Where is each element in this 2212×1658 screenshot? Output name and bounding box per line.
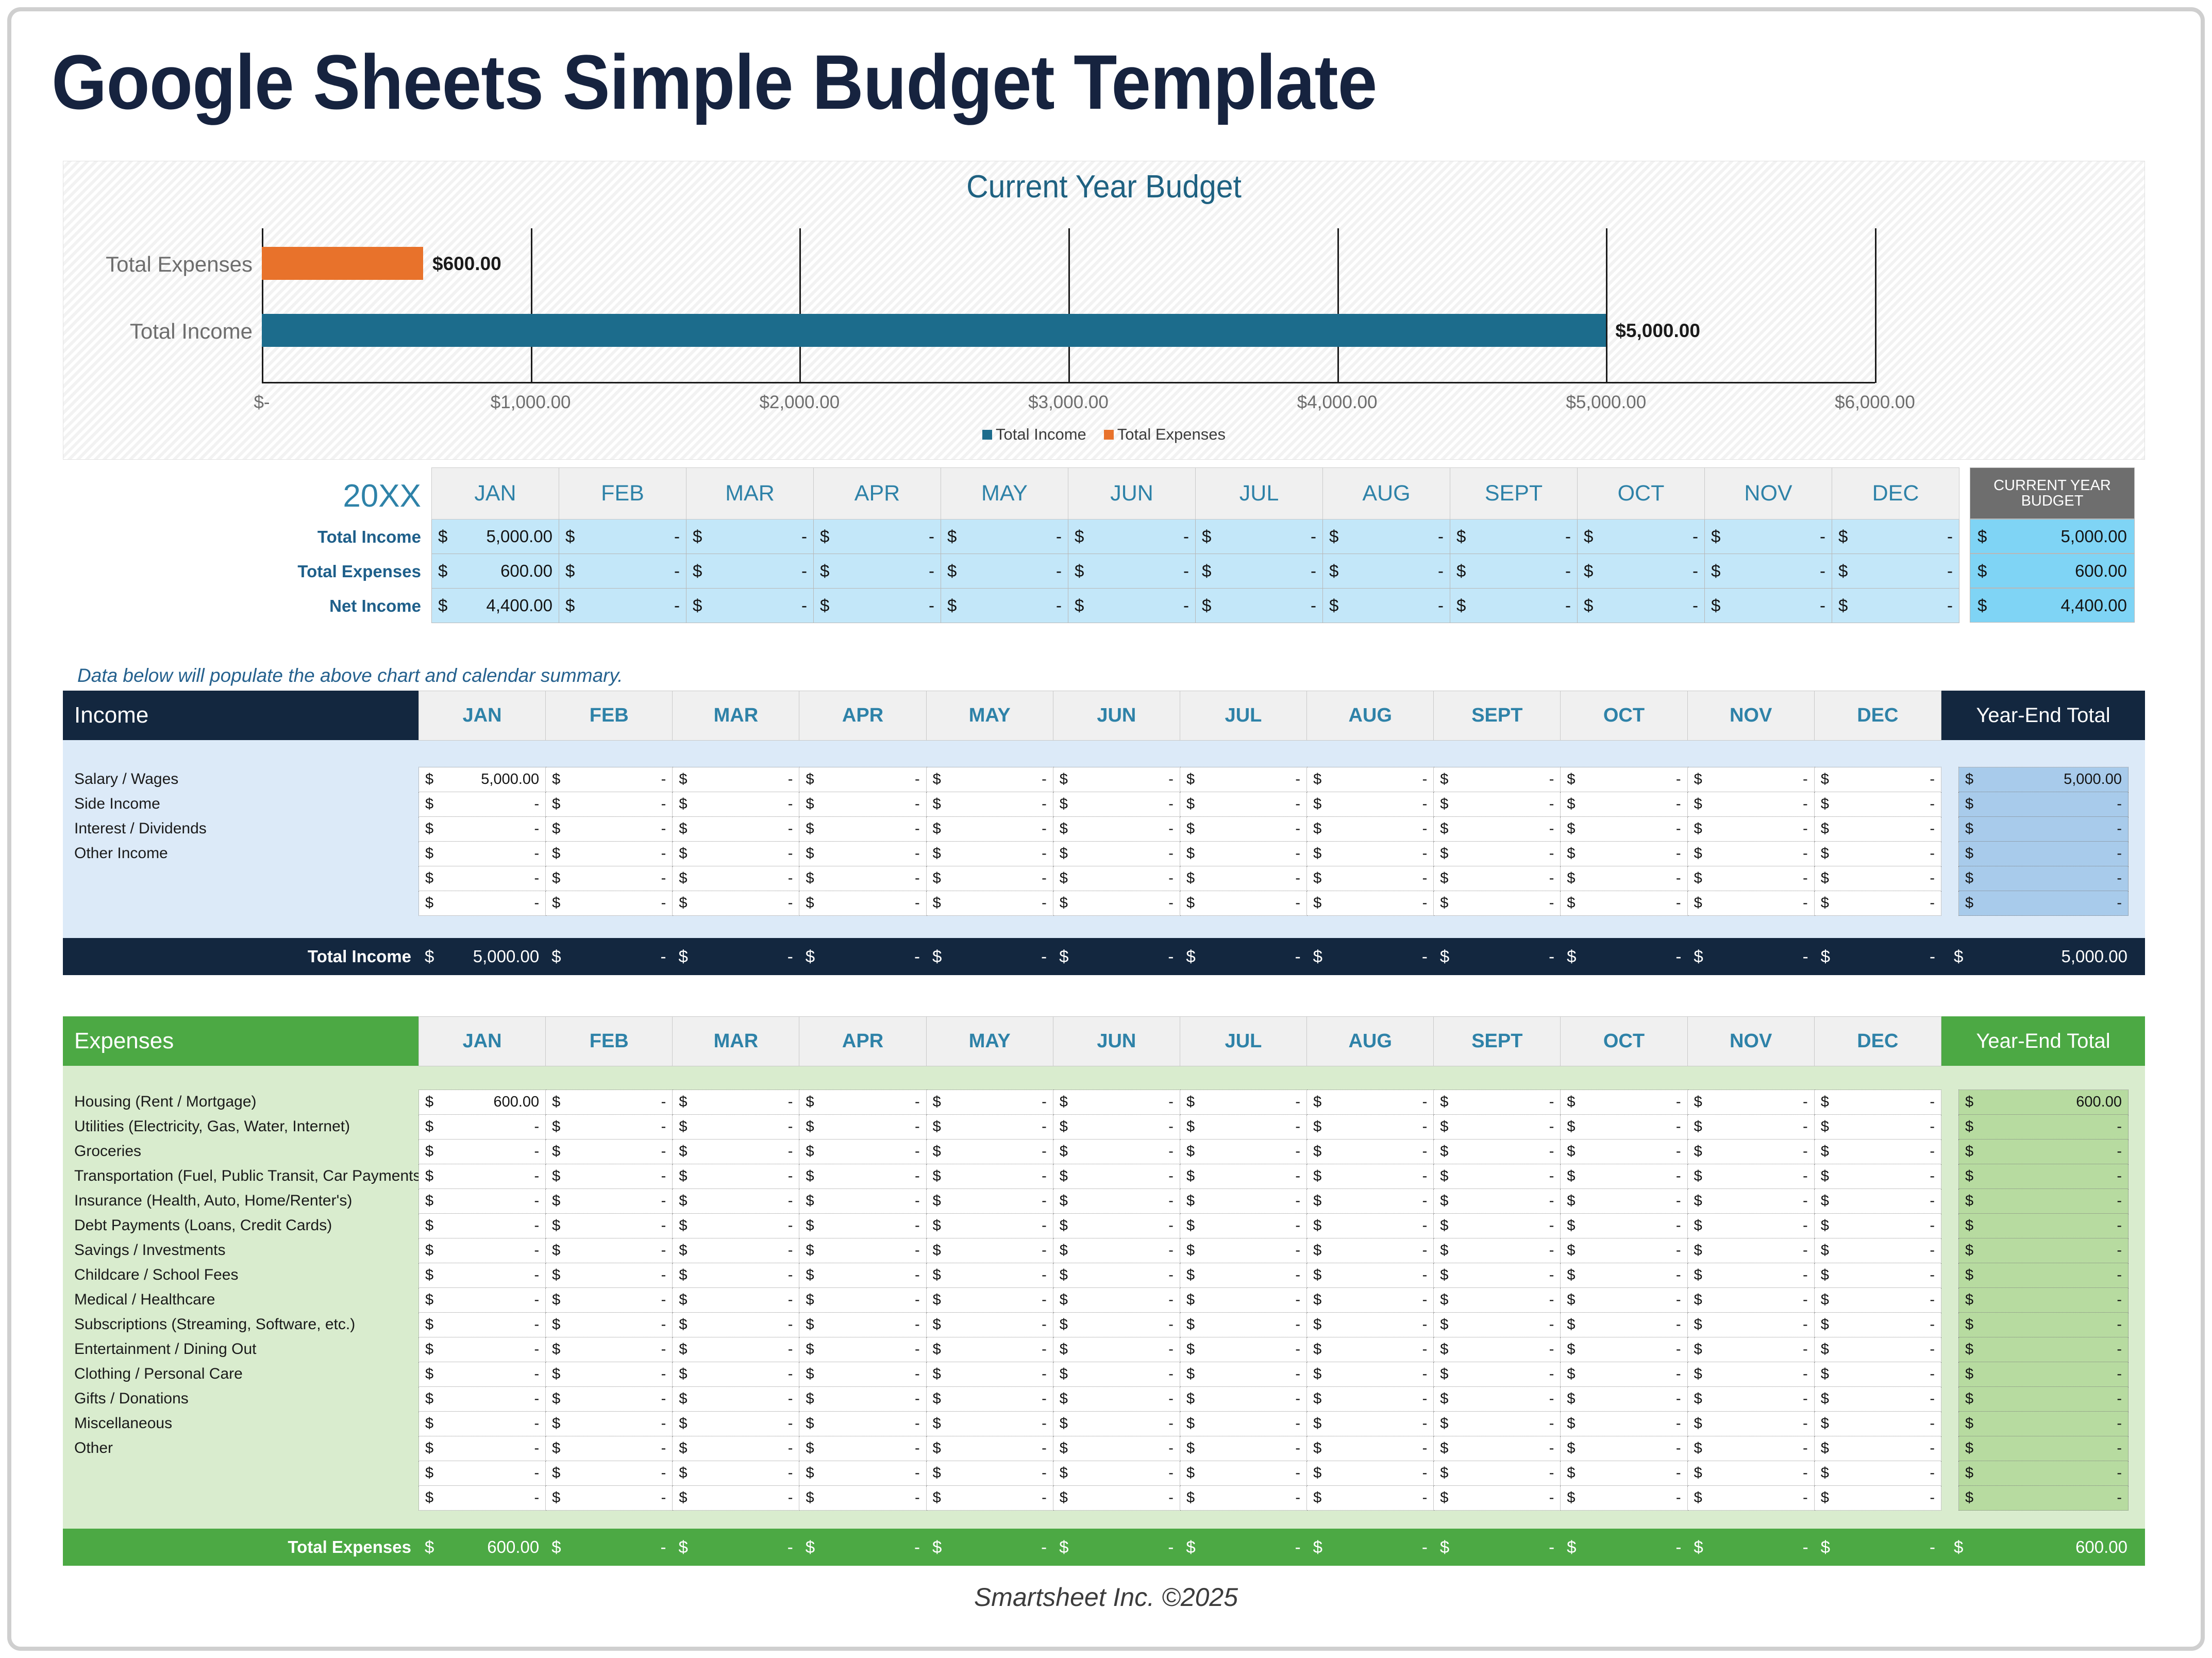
expenses-cell[interactable]: $- <box>1434 1090 1561 1115</box>
income-cell[interactable]: $- <box>1687 792 1814 817</box>
expenses-cell[interactable]: $- <box>1307 1238 1434 1263</box>
income-cell[interactable]: $- <box>1180 817 1306 842</box>
income-cell[interactable]: $- <box>1180 891 1306 916</box>
income-yearend-cell[interactable]: $- <box>1959 817 2129 842</box>
income-cell[interactable]: $- <box>1307 817 1434 842</box>
income-cell[interactable]: $- <box>926 891 1053 916</box>
expenses-cell[interactable]: $- <box>1180 1387 1306 1412</box>
expenses-cell[interactable]: $- <box>419 1337 546 1362</box>
expenses-yearend-cell[interactable]: $- <box>1959 1313 2129 1337</box>
expenses-cell[interactable]: $- <box>926 1412 1053 1436</box>
expenses-cell[interactable]: $- <box>1814 1461 1941 1486</box>
expenses-cell[interactable]: $- <box>673 1189 799 1214</box>
expenses-cell[interactable]: $- <box>673 1140 799 1164</box>
expenses-cell[interactable]: $- <box>1053 1362 1180 1387</box>
expenses-cell[interactable]: $- <box>1434 1436 1561 1461</box>
expenses-cell[interactable]: $- <box>673 1461 799 1486</box>
expenses-cell[interactable]: $- <box>1307 1461 1434 1486</box>
expenses-cell[interactable]: $- <box>1180 1263 1306 1288</box>
income-cell[interactable]: $- <box>799 866 926 891</box>
expenses-cell[interactable]: $- <box>1434 1238 1561 1263</box>
expenses-cell[interactable]: $- <box>546 1436 673 1461</box>
expenses-cell[interactable]: $- <box>1307 1288 1434 1313</box>
income-cell[interactable]: $5,000.00 <box>419 767 546 792</box>
expenses-cell[interactable]: $- <box>1180 1412 1306 1436</box>
expenses-cell[interactable]: $- <box>1561 1362 1687 1387</box>
expenses-yearend-cell[interactable]: $- <box>1959 1412 2129 1436</box>
income-cell[interactable]: $- <box>1814 891 1941 916</box>
expenses-cell[interactable]: $- <box>1814 1238 1941 1263</box>
expenses-cell[interactable]: $- <box>1687 1486 1814 1511</box>
expenses-cell[interactable]: $- <box>1814 1140 1941 1164</box>
expenses-cell[interactable]: $- <box>799 1090 926 1115</box>
summary-cell[interactable]: $- <box>1323 589 1450 623</box>
expenses-yearend-cell[interactable]: $- <box>1959 1214 2129 1238</box>
expenses-cell[interactable]: $- <box>419 1412 546 1436</box>
expenses-cell[interactable]: $- <box>926 1189 1053 1214</box>
expenses-cell[interactable]: $- <box>1434 1288 1561 1313</box>
expenses-cell[interactable]: $- <box>673 1214 799 1238</box>
income-yearend-cell[interactable]: $- <box>1959 842 2129 866</box>
expenses-cell[interactable]: $- <box>1687 1263 1814 1288</box>
summary-cell[interactable]: $- <box>1578 520 1705 554</box>
expenses-cell[interactable]: $- <box>419 1362 546 1387</box>
expenses-cell[interactable]: $- <box>1561 1238 1687 1263</box>
expenses-cell[interactable]: $- <box>1180 1313 1306 1337</box>
expenses-yearend-cell[interactable]: $- <box>1959 1362 2129 1387</box>
expenses-cell[interactable]: $- <box>1053 1436 1180 1461</box>
expenses-cell[interactable]: $- <box>1434 1486 1561 1511</box>
expenses-row-label[interactable]: Utilities (Electricity, Gas, Water, Inte… <box>63 1114 418 1139</box>
income-cell[interactable]: $- <box>799 767 926 792</box>
expenses-cell[interactable]: $- <box>419 1461 546 1486</box>
expenses-cell[interactable]: $- <box>673 1090 799 1115</box>
expenses-cell[interactable]: $- <box>1307 1140 1434 1164</box>
income-cell[interactable]: $- <box>1434 817 1561 842</box>
income-cell[interactable]: $- <box>1814 767 1941 792</box>
income-cell[interactable]: $- <box>926 866 1053 891</box>
summary-cell[interactable]: $- <box>1068 589 1196 623</box>
income-cell[interactable]: $- <box>799 891 926 916</box>
income-cell[interactable]: $- <box>1053 891 1180 916</box>
expenses-cell[interactable]: $- <box>673 1238 799 1263</box>
expenses-cell[interactable]: $- <box>1434 1461 1561 1486</box>
expenses-cell[interactable]: $- <box>1053 1461 1180 1486</box>
expenses-row-label[interactable]: Insurance (Health, Auto, Home/Renter's) <box>63 1188 418 1213</box>
expenses-cell[interactable]: $- <box>1180 1140 1306 1164</box>
expenses-cell[interactable]: $- <box>1561 1288 1687 1313</box>
expenses-cell[interactable]: $- <box>1180 1238 1306 1263</box>
expenses-cell[interactable]: $- <box>1687 1214 1814 1238</box>
expenses-yearend-cell[interactable]: $- <box>1959 1436 2129 1461</box>
expenses-cell[interactable]: $- <box>1180 1362 1306 1387</box>
expenses-yearend-cell[interactable]: $- <box>1959 1238 2129 1263</box>
expenses-yearend-cell[interactable]: $- <box>1959 1263 2129 1288</box>
expenses-cell[interactable]: $- <box>673 1387 799 1412</box>
expenses-cell[interactable]: $- <box>799 1362 926 1387</box>
income-cell[interactable]: $- <box>1687 817 1814 842</box>
expenses-cell[interactable]: $- <box>1307 1412 1434 1436</box>
expenses-cell[interactable]: $- <box>1434 1189 1561 1214</box>
expenses-cell[interactable]: $- <box>926 1214 1053 1238</box>
expenses-cell[interactable]: $- <box>799 1214 926 1238</box>
expenses-cell[interactable]: $- <box>419 1387 546 1412</box>
expenses-cell[interactable]: $- <box>1814 1313 1941 1337</box>
income-cell[interactable]: $- <box>1434 866 1561 891</box>
income-cell[interactable]: $- <box>1687 767 1814 792</box>
summary-cell[interactable]: $- <box>1832 589 1959 623</box>
income-cell[interactable]: $- <box>1307 891 1434 916</box>
income-cell[interactable]: $- <box>1053 767 1180 792</box>
expenses-cell[interactable]: $- <box>1687 1164 1814 1189</box>
expenses-cell[interactable]: $- <box>926 1090 1053 1115</box>
income-cell[interactable]: $- <box>1561 792 1687 817</box>
expenses-cell[interactable]: $- <box>419 1486 546 1511</box>
income-cell[interactable]: $- <box>1307 842 1434 866</box>
expenses-cell[interactable]: $- <box>1180 1189 1306 1214</box>
expenses-cell[interactable]: $- <box>419 1313 546 1337</box>
expenses-cell[interactable]: $- <box>1434 1313 1561 1337</box>
expenses-cell[interactable]: $- <box>1814 1288 1941 1313</box>
expenses-cell[interactable]: $- <box>1561 1214 1687 1238</box>
income-cell[interactable]: $- <box>799 842 926 866</box>
income-cell[interactable]: $- <box>546 817 673 842</box>
expenses-cell[interactable]: $- <box>1434 1164 1561 1189</box>
income-cell[interactable]: $- <box>1687 891 1814 916</box>
expenses-cell[interactable]: $- <box>1053 1412 1180 1436</box>
expenses-cell[interactable]: $- <box>1434 1263 1561 1288</box>
expenses-cell[interactable]: $- <box>673 1412 799 1436</box>
expenses-cell[interactable]: $- <box>546 1288 673 1313</box>
expenses-row-label[interactable]: Gifts / Donations <box>63 1386 418 1411</box>
income-cell[interactable]: $- <box>419 866 546 891</box>
income-cell[interactable]: $- <box>1053 842 1180 866</box>
expenses-yearend-cell[interactable]: $- <box>1959 1115 2129 1140</box>
income-cell[interactable]: $- <box>799 792 926 817</box>
expenses-row-label[interactable]: Clothing / Personal Care <box>63 1362 418 1386</box>
income-cell[interactable]: $- <box>673 842 799 866</box>
expenses-cell[interactable]: $- <box>1180 1461 1306 1486</box>
expenses-cell[interactable]: $- <box>1434 1362 1561 1387</box>
expenses-cell[interactable]: $- <box>926 1461 1053 1486</box>
expenses-cell[interactable]: $- <box>546 1164 673 1189</box>
expenses-row-label[interactable]: Debt Payments (Loans, Credit Cards) <box>63 1213 418 1238</box>
expenses-cell[interactable]: $- <box>799 1387 926 1412</box>
expenses-cell[interactable]: $- <box>1814 1337 1941 1362</box>
expenses-cell[interactable]: $- <box>419 1288 546 1313</box>
summary-cell[interactable]: $- <box>1196 589 1323 623</box>
expenses-cell[interactable]: $- <box>1434 1387 1561 1412</box>
income-cell[interactable]: $- <box>1307 792 1434 817</box>
income-yearend-cell[interactable]: $- <box>1959 891 2129 916</box>
summary-cell[interactable]: $- <box>814 520 941 554</box>
expenses-cell[interactable]: $- <box>1561 1164 1687 1189</box>
expenses-cell[interactable]: $- <box>926 1263 1053 1288</box>
expenses-cell[interactable]: $- <box>546 1115 673 1140</box>
income-cell[interactable]: $- <box>1434 792 1561 817</box>
expenses-cell[interactable]: $- <box>1561 1337 1687 1362</box>
expenses-cell[interactable]: $- <box>673 1263 799 1288</box>
expenses-yearend-cell[interactable]: $- <box>1959 1337 2129 1362</box>
income-yearend-cell[interactable]: $5,000.00 <box>1959 767 2129 792</box>
expenses-cell[interactable]: $- <box>1687 1337 1814 1362</box>
income-cell[interactable]: $- <box>1814 866 1941 891</box>
income-cell[interactable]: $- <box>1053 817 1180 842</box>
expenses-cell[interactable]: $- <box>1307 1486 1434 1511</box>
expenses-cell[interactable]: $- <box>1687 1238 1814 1263</box>
expenses-cell[interactable]: $- <box>1053 1164 1180 1189</box>
income-cell[interactable]: $- <box>419 842 546 866</box>
summary-cell[interactable]: $- <box>1068 520 1196 554</box>
expenses-cell[interactable]: $- <box>1053 1189 1180 1214</box>
expenses-cell[interactable]: $- <box>1180 1214 1306 1238</box>
expenses-cell[interactable]: $- <box>1307 1214 1434 1238</box>
expenses-cell[interactable]: $- <box>926 1486 1053 1511</box>
expenses-cell[interactable]: $- <box>1307 1115 1434 1140</box>
expenses-cell[interactable]: $- <box>1307 1362 1434 1387</box>
expenses-cell[interactable]: $- <box>1814 1214 1941 1238</box>
income-cell[interactable]: $- <box>673 866 799 891</box>
income-cell[interactable]: $- <box>926 842 1053 866</box>
income-cell[interactable]: $- <box>1561 842 1687 866</box>
expenses-cell[interactable]: $- <box>1687 1090 1814 1115</box>
expenses-yearend-cell[interactable]: $- <box>1959 1288 2129 1313</box>
expenses-cell[interactable]: $- <box>673 1313 799 1337</box>
expenses-cell[interactable]: $- <box>799 1436 926 1461</box>
expenses-cell[interactable]: $- <box>1814 1263 1941 1288</box>
expenses-cell[interactable]: $- <box>1561 1189 1687 1214</box>
expenses-cell[interactable]: $- <box>546 1189 673 1214</box>
expenses-yearend-cell[interactable]: $600.00 <box>1959 1090 2129 1115</box>
expenses-cell[interactable]: $- <box>1307 1263 1434 1288</box>
expenses-row-label[interactable]: Medical / Healthcare <box>63 1287 418 1312</box>
expenses-row-label[interactable]: Subscriptions (Streaming, Software, etc.… <box>63 1312 418 1337</box>
expenses-cell[interactable]: $- <box>1434 1115 1561 1140</box>
expenses-cell[interactable]: $- <box>1814 1387 1941 1412</box>
income-row-label[interactable] <box>63 866 418 891</box>
summary-cell[interactable]: $- <box>1323 554 1450 589</box>
summary-cell[interactable]: $- <box>1578 589 1705 623</box>
expenses-cell[interactable]: $600.00 <box>419 1090 546 1115</box>
income-cell[interactable]: $- <box>419 817 546 842</box>
expenses-cell[interactable]: $- <box>1307 1436 1434 1461</box>
expenses-cell[interactable]: $- <box>673 1164 799 1189</box>
income-cell[interactable]: $- <box>673 817 799 842</box>
expenses-row-label[interactable]: Entertainment / Dining Out <box>63 1337 418 1362</box>
expenses-cell[interactable]: $- <box>546 1362 673 1387</box>
expenses-cell[interactable]: $- <box>1561 1263 1687 1288</box>
expenses-cell[interactable]: $- <box>1561 1313 1687 1337</box>
income-cell[interactable]: $- <box>926 792 1053 817</box>
expenses-cell[interactable]: $- <box>926 1288 1053 1313</box>
income-cell[interactable]: $- <box>1814 792 1941 817</box>
expenses-cell[interactable]: $- <box>673 1436 799 1461</box>
expenses-cell[interactable]: $- <box>546 1313 673 1337</box>
current-year-budget-cell[interactable]: $600.00 <box>1970 554 2135 588</box>
expenses-cell[interactable]: $- <box>799 1486 926 1511</box>
income-cell[interactable]: $- <box>1687 842 1814 866</box>
expenses-yearend-cell[interactable]: $- <box>1959 1189 2129 1214</box>
income-cell[interactable]: $- <box>1814 817 1941 842</box>
income-cell[interactable]: $- <box>1434 842 1561 866</box>
expenses-cell[interactable]: $- <box>1687 1436 1814 1461</box>
expenses-yearend-cell[interactable]: $- <box>1959 1461 2129 1486</box>
income-row-label[interactable]: Interest / Dividends <box>63 816 418 841</box>
expenses-cell[interactable]: $- <box>799 1263 926 1288</box>
expenses-cell[interactable]: $- <box>1180 1115 1306 1140</box>
expenses-cell[interactable]: $- <box>926 1337 1053 1362</box>
expenses-cell[interactable]: $- <box>1561 1436 1687 1461</box>
expenses-cell[interactable]: $- <box>546 1214 673 1238</box>
income-cell[interactable]: $- <box>1434 891 1561 916</box>
expenses-cell[interactable]: $- <box>1561 1486 1687 1511</box>
expenses-cell[interactable]: $- <box>546 1412 673 1436</box>
expenses-cell[interactable]: $- <box>1180 1436 1306 1461</box>
income-cell[interactable]: $- <box>926 767 1053 792</box>
summary-cell[interactable]: $- <box>686 554 814 589</box>
income-cell[interactable]: $- <box>419 891 546 916</box>
current-year-budget-cell[interactable]: $4,400.00 <box>1970 588 2135 623</box>
summary-cell[interactable]: $- <box>559 554 686 589</box>
expenses-cell[interactable]: $- <box>799 1412 926 1436</box>
summary-cell[interactable]: $- <box>1068 554 1196 589</box>
expenses-cell[interactable]: $- <box>1180 1288 1306 1313</box>
expenses-cell[interactable]: $- <box>1053 1214 1180 1238</box>
expenses-cell[interactable]: $- <box>1814 1412 1941 1436</box>
income-cell[interactable]: $- <box>546 891 673 916</box>
summary-cell[interactable]: $- <box>1832 520 1959 554</box>
expenses-row-label[interactable]: Miscellaneous <box>63 1411 418 1436</box>
summary-cell[interactable]: $- <box>1705 589 1832 623</box>
expenses-cell[interactable]: $- <box>673 1486 799 1511</box>
summary-cell[interactable]: $4,400.00 <box>432 589 559 623</box>
income-cell[interactable]: $- <box>546 842 673 866</box>
summary-cell[interactable]: $- <box>814 554 941 589</box>
income-cell[interactable]: $- <box>419 792 546 817</box>
expenses-row-label[interactable]: Groceries <box>63 1139 418 1164</box>
expenses-cell[interactable]: $- <box>419 1115 546 1140</box>
expenses-cell[interactable]: $- <box>1180 1337 1306 1362</box>
income-cell[interactable]: $- <box>546 792 673 817</box>
expenses-cell[interactable]: $- <box>1687 1313 1814 1337</box>
expenses-cell[interactable]: $- <box>546 1090 673 1115</box>
expenses-cell[interactable]: $- <box>799 1189 926 1214</box>
expenses-cell[interactable]: $- <box>1814 1362 1941 1387</box>
expenses-row-label[interactable] <box>63 1485 418 1510</box>
expenses-cell[interactable]: $- <box>926 1238 1053 1263</box>
income-yearend-cell[interactable]: $- <box>1959 866 2129 891</box>
income-cell[interactable]: $- <box>673 891 799 916</box>
expenses-cell[interactable]: $- <box>419 1164 546 1189</box>
expenses-cell[interactable]: $- <box>1307 1164 1434 1189</box>
expenses-row-label[interactable]: Other <box>63 1436 418 1461</box>
income-cell[interactable]: $- <box>546 767 673 792</box>
summary-cell[interactable]: $- <box>686 520 814 554</box>
expenses-cell[interactable]: $- <box>1053 1288 1180 1313</box>
expenses-cell[interactable]: $- <box>926 1140 1053 1164</box>
expenses-cell[interactable]: $- <box>546 1387 673 1412</box>
expenses-cell[interactable]: $- <box>926 1387 1053 1412</box>
expenses-cell[interactable]: $- <box>1814 1436 1941 1461</box>
income-cell[interactable]: $- <box>1307 866 1434 891</box>
expenses-cell[interactable]: $- <box>799 1337 926 1362</box>
income-row-label[interactable]: Salary / Wages <box>63 767 418 792</box>
expenses-cell[interactable]: $- <box>1307 1337 1434 1362</box>
expenses-cell[interactable]: $- <box>1687 1115 1814 1140</box>
expenses-cell[interactable]: $- <box>1180 1090 1306 1115</box>
summary-cell[interactable]: $- <box>1832 554 1959 589</box>
summary-cell[interactable]: $- <box>1705 554 1832 589</box>
summary-cell[interactable]: $- <box>1450 589 1578 623</box>
expenses-row-label[interactable]: Childcare / School Fees <box>63 1263 418 1287</box>
income-cell[interactable]: $- <box>1180 767 1306 792</box>
summary-cell[interactable]: $- <box>814 589 941 623</box>
expenses-cell[interactable]: $- <box>1307 1313 1434 1337</box>
expenses-cell[interactable]: $- <box>1814 1115 1941 1140</box>
expenses-cell[interactable]: $- <box>1053 1337 1180 1362</box>
income-yearend-cell[interactable]: $- <box>1959 792 2129 817</box>
expenses-cell[interactable]: $- <box>1814 1189 1941 1214</box>
expenses-cell[interactable]: $- <box>799 1115 926 1140</box>
expenses-cell[interactable]: $- <box>1053 1115 1180 1140</box>
expenses-row-label[interactable]: Transportation (Fuel, Public Transit, Ca… <box>63 1164 418 1188</box>
expenses-row-label[interactable]: Housing (Rent / Mortgage) <box>63 1090 418 1114</box>
income-cell[interactable]: $- <box>1814 842 1941 866</box>
expenses-cell[interactable]: $- <box>1687 1387 1814 1412</box>
expenses-cell[interactable]: $- <box>1434 1412 1561 1436</box>
expenses-cell[interactable]: $- <box>546 1486 673 1511</box>
expenses-cell[interactable]: $- <box>1307 1090 1434 1115</box>
expenses-cell[interactable]: $- <box>1053 1090 1180 1115</box>
summary-cell[interactable]: $- <box>1578 554 1705 589</box>
expenses-cell[interactable]: $- <box>799 1238 926 1263</box>
expenses-cell[interactable]: $- <box>1561 1387 1687 1412</box>
expenses-cell[interactable]: $- <box>799 1288 926 1313</box>
expenses-cell[interactable]: $- <box>673 1115 799 1140</box>
expenses-cell[interactable]: $- <box>1814 1486 1941 1511</box>
expenses-cell[interactable]: $- <box>1434 1337 1561 1362</box>
summary-cell[interactable]: $- <box>1450 520 1578 554</box>
expenses-cell[interactable]: $- <box>419 1263 546 1288</box>
expenses-cell[interactable]: $- <box>546 1238 673 1263</box>
expenses-cell[interactable]: $- <box>546 1337 673 1362</box>
expenses-cell[interactable]: $- <box>1434 1140 1561 1164</box>
expenses-cell[interactable]: $- <box>1687 1288 1814 1313</box>
income-cell[interactable]: $- <box>1561 866 1687 891</box>
income-row-label[interactable]: Side Income <box>63 792 418 816</box>
income-cell[interactable]: $- <box>1687 866 1814 891</box>
income-cell[interactable]: $- <box>1434 767 1561 792</box>
expenses-cell[interactable]: $- <box>1053 1238 1180 1263</box>
income-cell[interactable]: $- <box>1053 792 1180 817</box>
expenses-cell[interactable]: $- <box>673 1362 799 1387</box>
expenses-cell[interactable]: $- <box>546 1263 673 1288</box>
expenses-cell[interactable]: $- <box>419 1436 546 1461</box>
summary-cell[interactable]: $- <box>1196 554 1323 589</box>
expenses-row-label[interactable] <box>63 1461 418 1485</box>
expenses-cell[interactable]: $- <box>926 1115 1053 1140</box>
expenses-cell[interactable]: $- <box>1561 1140 1687 1164</box>
expenses-yearend-cell[interactable]: $- <box>1959 1486 2129 1511</box>
income-cell[interactable]: $- <box>1180 842 1306 866</box>
expenses-cell[interactable]: $- <box>1053 1263 1180 1288</box>
summary-cell[interactable]: $- <box>686 589 814 623</box>
expenses-cell[interactable]: $- <box>1307 1387 1434 1412</box>
expenses-cell[interactable]: $- <box>546 1461 673 1486</box>
summary-cell[interactable]: $- <box>941 554 1068 589</box>
expenses-cell[interactable]: $- <box>546 1140 673 1164</box>
expenses-cell[interactable]: $- <box>1434 1214 1561 1238</box>
